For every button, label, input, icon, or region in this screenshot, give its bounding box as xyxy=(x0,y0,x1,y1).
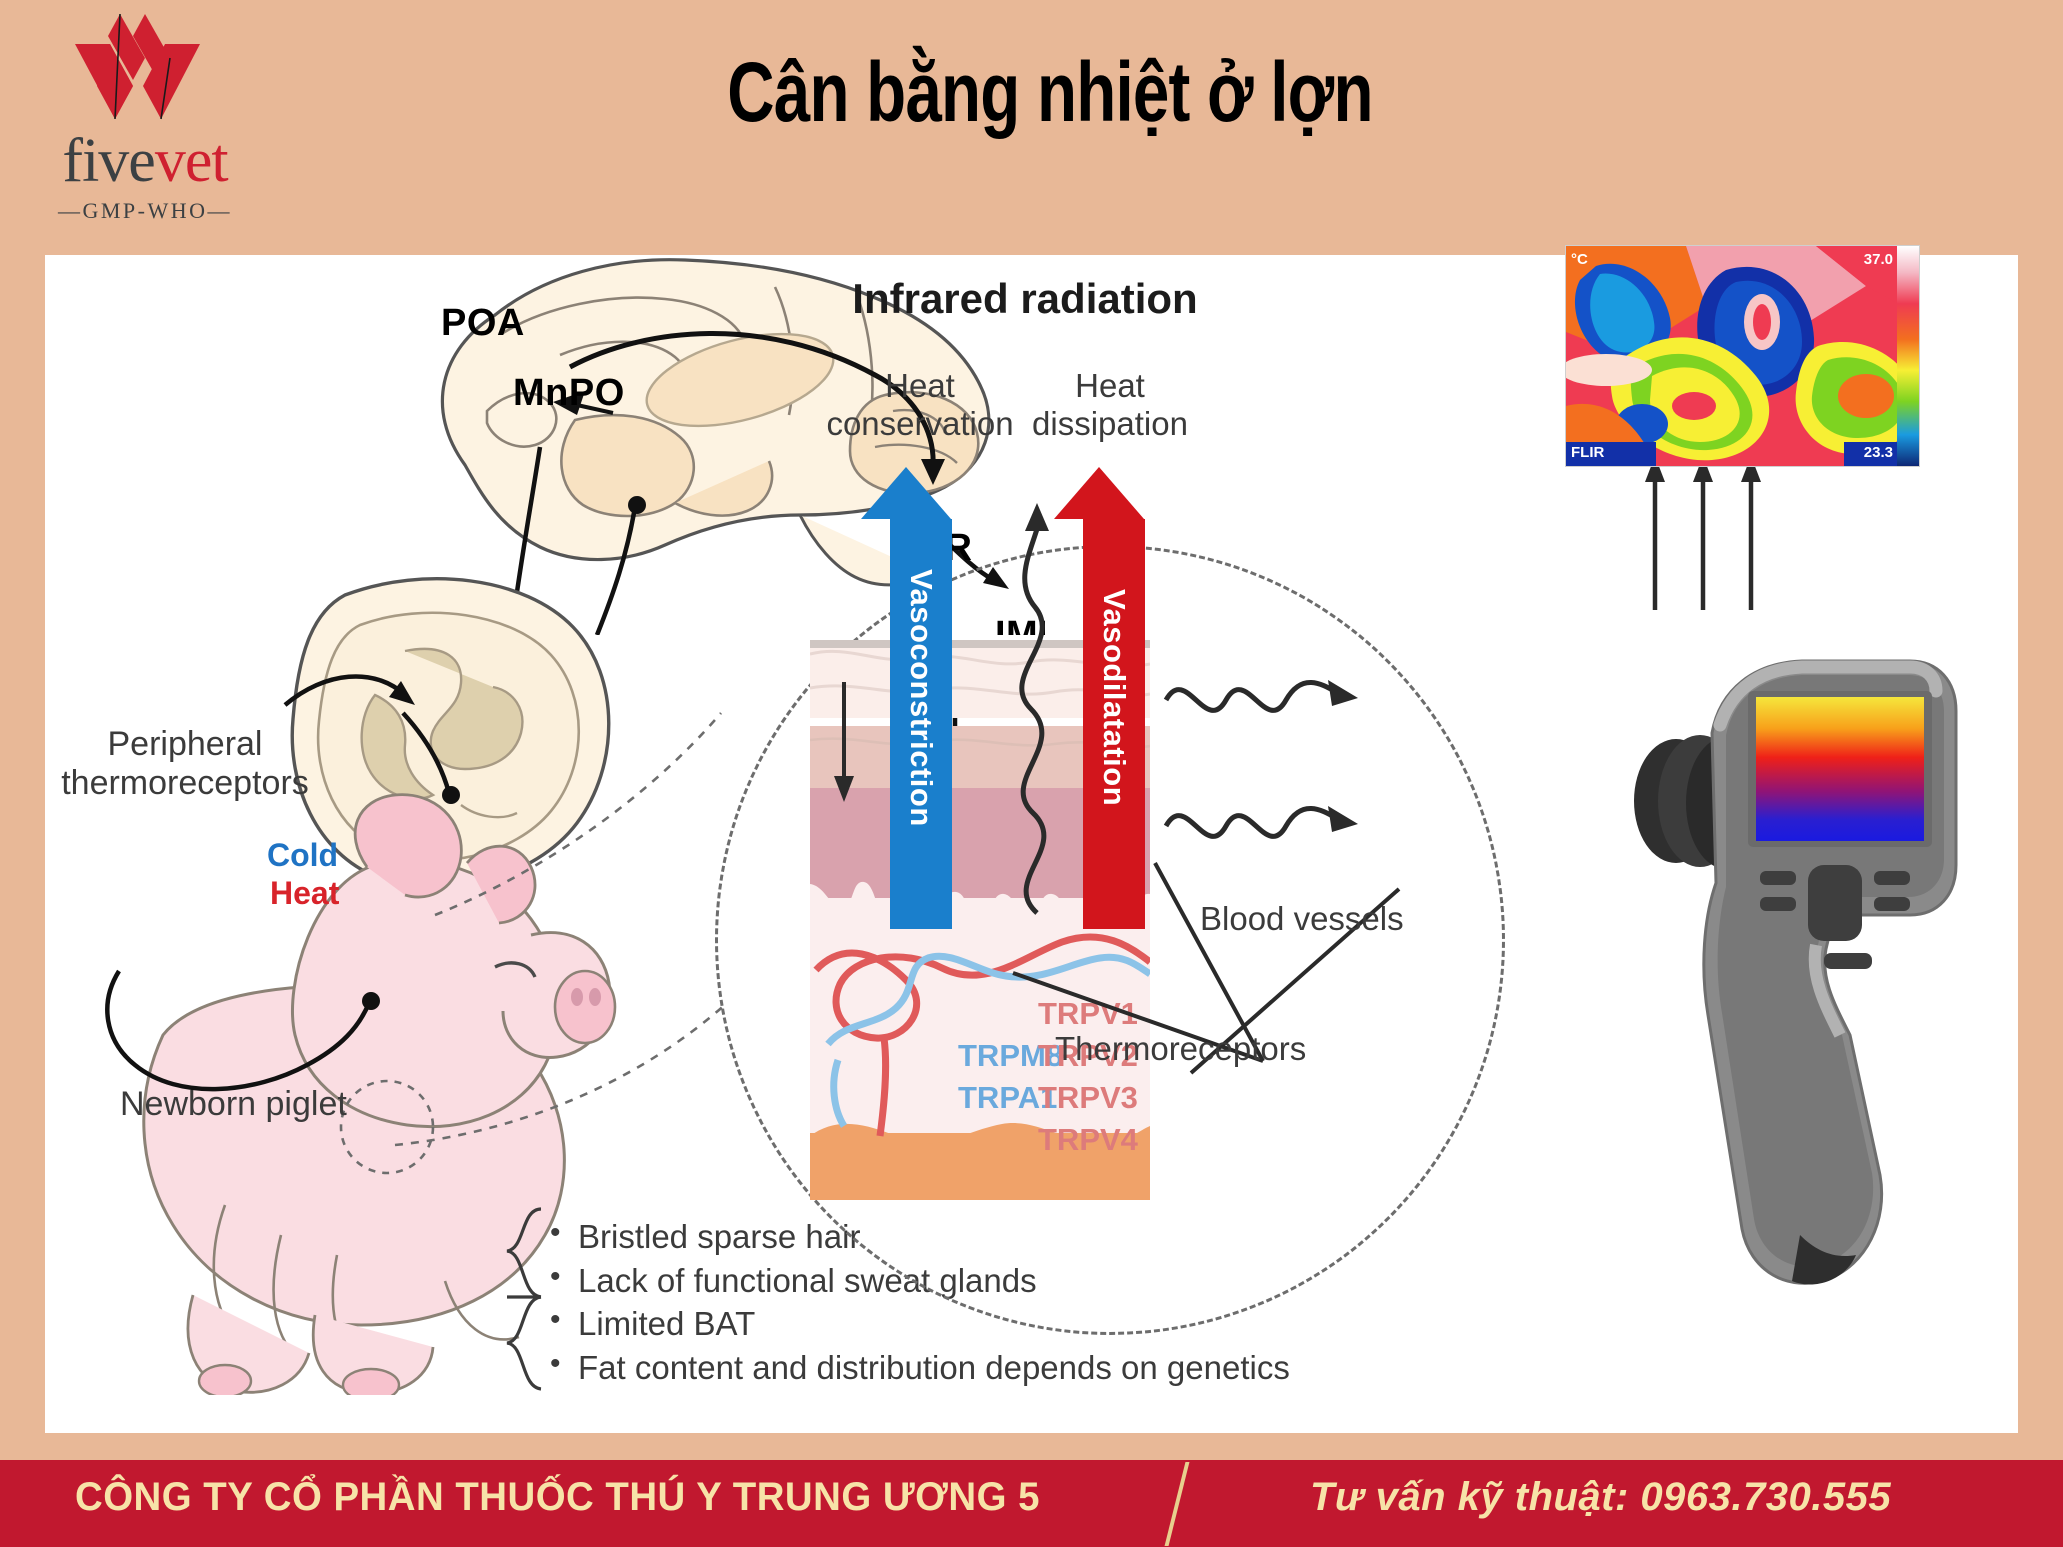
page-header: fivevet —GMP-WHO— Cân bằng nhiệt ở lợn xyxy=(0,0,2063,188)
upward-radiation-arrows xyxy=(1635,450,1775,610)
brand-name-part1: five xyxy=(62,127,154,195)
heat-dissipation-line2: dissipation xyxy=(995,405,1225,443)
footer-company-name: CÔNG TY CỔ PHẦN THUỐC THÚ Y TRUNG ƯƠNG 5 xyxy=(75,1475,1040,1520)
thermal-image-content xyxy=(1566,246,1920,467)
vasodilatation-label: Vasodilatation xyxy=(1096,589,1132,806)
page-footer: CÔNG TY CỔ PHẦN THUỐC THÚ Y TRUNG ƯƠNG 5… xyxy=(0,1460,2063,1547)
radiation-wave-arrows xyxy=(1160,640,1380,870)
brand-certification: —GMP-WHO— xyxy=(10,198,280,224)
thermoregulation-figure: POA MnPO rMR IML xyxy=(45,255,2018,1433)
brand-wordmark: fivevet xyxy=(10,130,280,192)
thermal-unit-label: °C xyxy=(1571,251,1588,268)
thermal-max-temp: 37.0 xyxy=(1864,251,1893,268)
page-title: Cân bằng nhiệt ở lợn xyxy=(465,44,1635,141)
evaporation-wave-icon xyxy=(985,495,1095,915)
heat-dissipation-line1: Heat xyxy=(995,367,1225,405)
fivevet-chevron-logo-icon xyxy=(65,14,225,139)
list-item: Fat content and distribution depends on … xyxy=(540,1346,1180,1390)
brand-logo: fivevet —GMP-WHO— xyxy=(10,8,280,188)
thermal-camera-icon xyxy=(1620,615,1980,1335)
heat-dissipation-caption: Heat dissipation xyxy=(995,367,1225,444)
thermoreceptors-label: Thermoreceptors xyxy=(1055,1030,1306,1068)
blood-vessels-label: Blood vessels xyxy=(1200,900,1404,938)
peripheral-label-line1: Peripheral xyxy=(35,725,335,764)
infrared-radiation-title: Infrared radiation xyxy=(805,275,1245,323)
vasoconstriction-text-wrap: Vasoconstriction xyxy=(890,467,952,929)
brand-name-part2: vet xyxy=(155,127,228,195)
thermal-color-scale xyxy=(1897,246,1919,467)
thermal-min-temp: 23.3 xyxy=(1864,444,1893,461)
vasoconstriction-arrow: Vasoconstriction xyxy=(890,467,952,929)
thermal-image-of-pigs: °C 37.0 23.3 FLIR xyxy=(1565,245,1920,467)
newborn-piglet-caption: Newborn piglet xyxy=(120,1085,347,1124)
flir-brand-label: FLIR xyxy=(1571,444,1604,461)
receptor-label-trpv4: TRPV4 xyxy=(1038,1122,1138,1158)
heat-label: Heat xyxy=(270,875,339,912)
receptor-label-trpv3: TRPV3 xyxy=(1038,1080,1138,1116)
cold-label: Cold xyxy=(267,837,338,874)
brain-label-mnpo: MnPO xyxy=(513,372,625,414)
vasoconstriction-label: Vasoconstriction xyxy=(903,569,939,827)
peripheral-label-line2: thermoreceptors xyxy=(35,764,335,803)
peripheral-thermoreceptors-label: Peripheral thermoreceptors xyxy=(35,725,335,803)
footer-contact: Tư vấn kỹ thuật: 0963.730.555 xyxy=(1310,1475,1891,1520)
brain-label-poa: POA xyxy=(441,302,525,344)
footer-divider xyxy=(1165,1462,1190,1546)
